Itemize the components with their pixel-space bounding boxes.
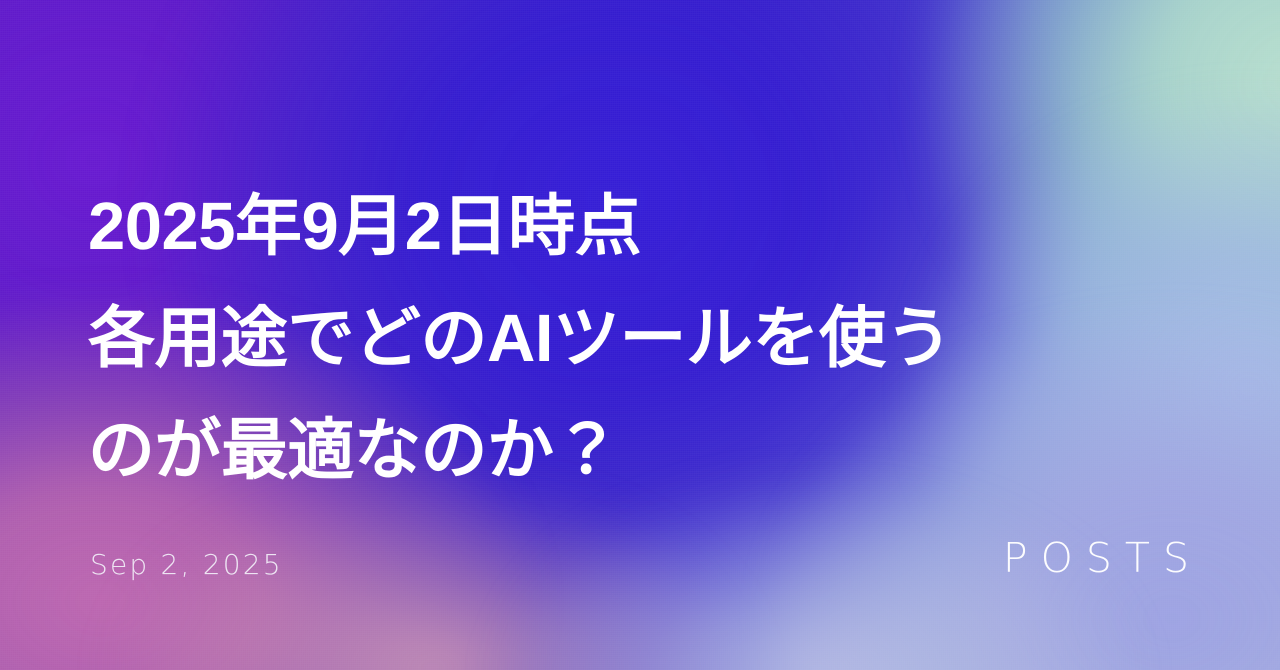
page-title: 2025年9月2日時点 各用途でどのAIツールを使う のが最適なのか？ bbox=[88, 171, 1168, 507]
og-image-card: 2025年9月2日時点 各用途でどのAIツールを使う のが最適なのか？ Sep … bbox=[0, 0, 1280, 670]
publish-date: Sep 2, 2025 bbox=[90, 548, 283, 581]
card-content: 2025年9月2日時点 各用途でどのAIツールを使う のが最適なのか？ Sep … bbox=[0, 0, 1280, 670]
page-title-line-1: 2025年9月2日時点 bbox=[88, 171, 1168, 283]
page-title-line-3: のが最適なのか？ bbox=[88, 395, 1168, 507]
brand-logo: POSTS bbox=[1003, 534, 1202, 582]
page-title-line-2: 各用途でどのAIツールを使う bbox=[88, 283, 1168, 395]
